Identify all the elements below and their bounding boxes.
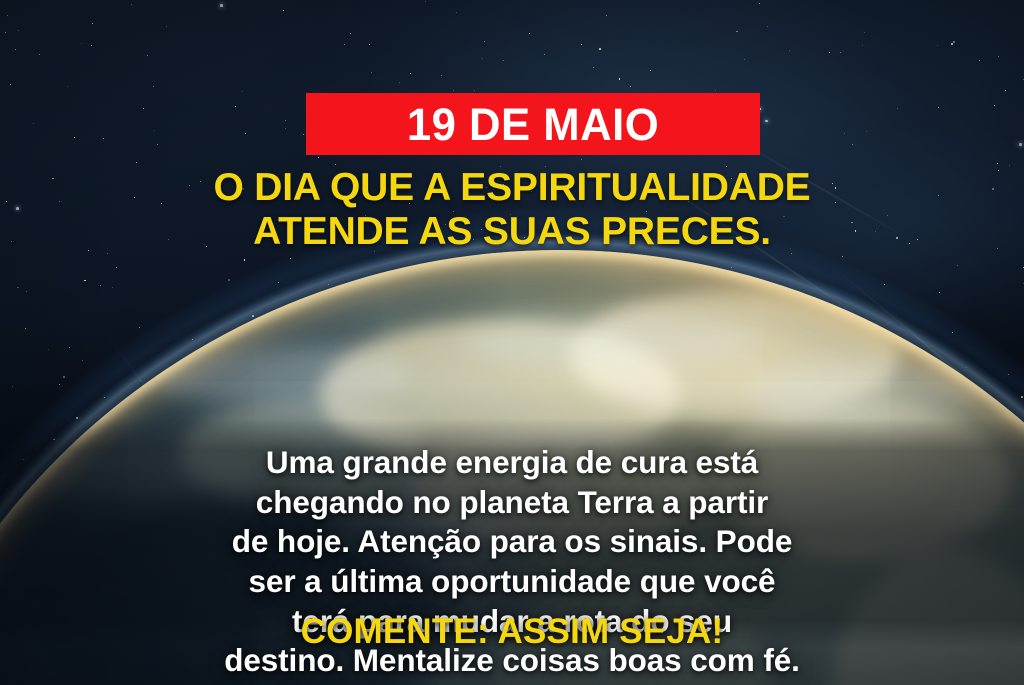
- headline-line-1: O DIA QUE A ESPIRITUALIDADE: [214, 166, 811, 209]
- date-banner-label: 19 DE MAIO: [407, 102, 659, 147]
- call-to-action: COMENTE: ASSIM SEJA!: [0, 612, 1024, 652]
- poster-content: 19 DE MAIO O DIA QUE A ESPIRITUALIDADE A…: [0, 0, 1024, 685]
- cta-label: COMENTE: ASSIM SEJA!: [301, 612, 724, 651]
- body-line-2: chegando no planeta Terra a partir: [50, 483, 974, 523]
- date-banner: 19 DE MAIO: [306, 93, 760, 155]
- body-line-3: de hoje. Atenção para os sinais. Pode: [50, 522, 974, 562]
- body-line-4: ser a última oportunidade que você: [50, 562, 974, 602]
- poster-canvas: 19 DE MAIO O DIA QUE A ESPIRITUALIDADE A…: [0, 0, 1024, 685]
- body-line-1: Uma grande energia de cura está: [50, 443, 974, 483]
- headline-line-2: ATENDE AS SUAS PRECES.: [0, 210, 1024, 254]
- headline: O DIA QUE A ESPIRITUALIDADE ATENDE AS SU…: [0, 166, 1024, 253]
